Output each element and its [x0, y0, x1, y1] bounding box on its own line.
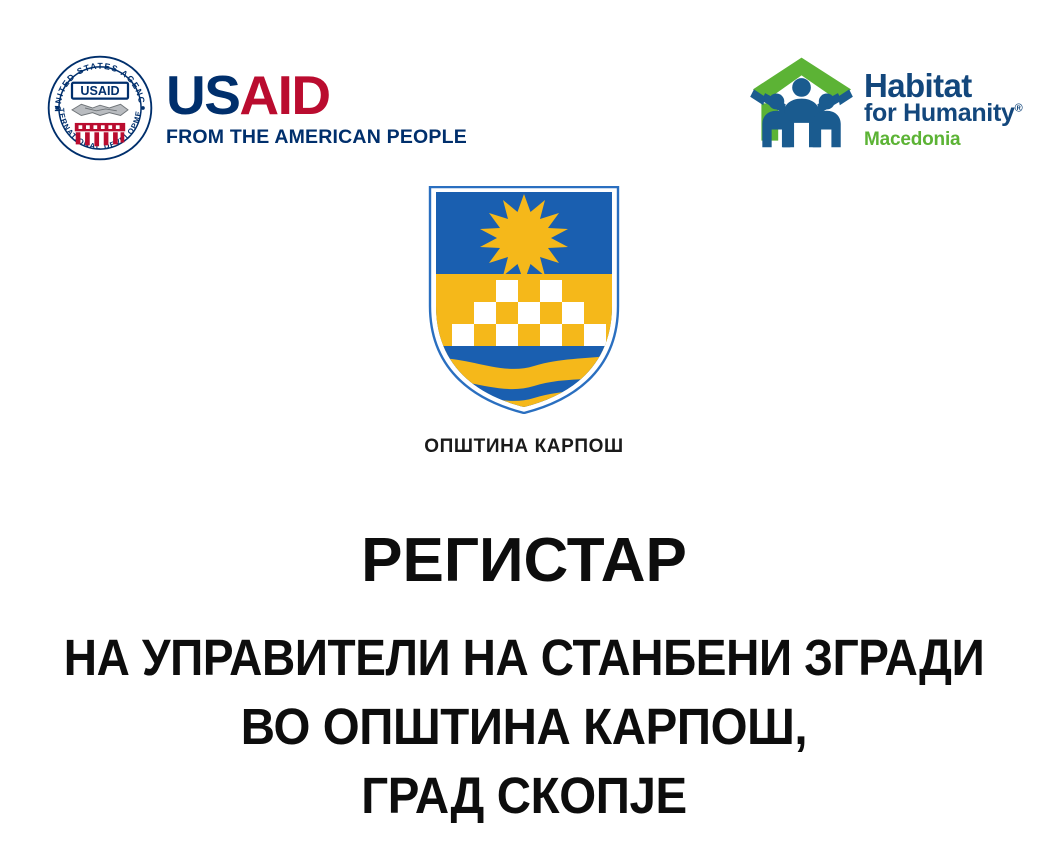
document-title: РЕГИСТАР: [0, 530, 1048, 592]
subtitle-line-3: ГРАД СКОПЈЕ: [37, 766, 1012, 826]
subtitle-line-2: ВО ОПШТИНА КАРПОШ,: [37, 697, 1012, 757]
subtitle-line-1: НА УПРАВИТЕЛИ НА СТАНБЕНИ ЗГРАДИ: [51, 628, 996, 688]
habitat-wordmark: Habitat for Humanity® Macedonia: [864, 52, 1022, 151]
habitat-name-line2: for Humanity®: [864, 101, 1022, 127]
usaid-word-aid: AID: [239, 64, 329, 126]
usaid-seal-icon: UNITED STATES AGENCY INTERNATIONAL DEVEL…: [44, 52, 156, 164]
partner-logos-row: UNITED STATES AGENCY INTERNATIONAL DEVEL…: [0, 0, 1048, 180]
habitat-house-people-icon: [748, 52, 856, 150]
habitat-for-humanity-logo: Habitat for Humanity® Macedonia: [748, 52, 1022, 151]
habitat-country-label: Macedonia: [864, 129, 1022, 151]
usaid-word-us: US: [166, 64, 239, 126]
svg-text:USAID: USAID: [80, 84, 119, 98]
usaid-tagline: FROM THE AMERICAN PEOPLE: [166, 126, 467, 149]
document-page: UNITED STATES AGENCY INTERNATIONAL DEVEL…: [0, 0, 1048, 855]
usaid-wordmark-main: USAID: [166, 69, 467, 122]
crest-block: ОПШТИНА КАРПОШ: [0, 186, 1048, 458]
document-subtitle: НА УПРАВИТЕЛИ НА СТАНБЕНИ ЗГРАДИ ВО ОПШТ…: [37, 628, 1012, 827]
crest-caption: ОПШТИНА КАРПОШ: [0, 436, 1048, 458]
registered-trademark-icon: ®: [1015, 103, 1023, 115]
usaid-wordmark: USAID FROM THE AMERICAN PEOPLE: [166, 67, 467, 149]
handshake-icon: [72, 104, 128, 115]
habitat-name-line2-text: for Humanity: [864, 99, 1015, 127]
usaid-logo: UNITED STATES AGENCY INTERNATIONAL DEVEL…: [44, 52, 467, 164]
habitat-name-line1: Habitat: [864, 70, 1022, 101]
karpos-coat-of-arms-icon: [426, 186, 622, 414]
title-block: РЕГИСТАР НА УПРАВИТЕЛИ НА СТАНБЕНИ ЗГРАД…: [0, 530, 1048, 827]
